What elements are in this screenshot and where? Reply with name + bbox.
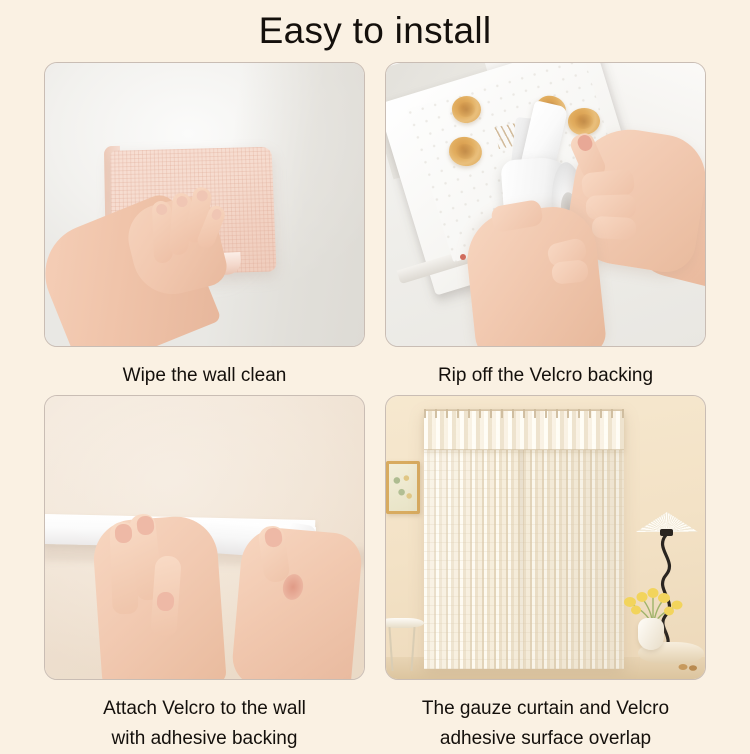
step-4-photo <box>385 395 706 680</box>
right-finger-ring <box>591 216 636 240</box>
step-card-2: Rip off the Velcro backing <box>385 62 706 391</box>
step-4-caption: The gauze curtain and Velcro adhesive su… <box>385 694 706 754</box>
step-2-caption-line-1: Rip off the Velcro backing <box>438 365 653 386</box>
steps-grid: Wipe the wall clean <box>44 62 706 744</box>
step-card-3: Attach Velcro to the wall with adhesive … <box>44 395 365 754</box>
framed-botanical-print <box>386 461 420 514</box>
step-4-caption-line-1: The gauze curtain and Velcro <box>385 694 706 724</box>
step-card-1: Wipe the wall clean <box>44 62 365 391</box>
step-3-caption-line-1: Attach Velcro to the wall <box>44 694 365 724</box>
fingernail <box>115 524 133 544</box>
print-artwork <box>389 464 417 511</box>
side-table-leg <box>388 627 393 671</box>
red-dot-decoration <box>460 254 466 260</box>
right-hand <box>230 525 363 680</box>
decor-objects <box>678 658 700 666</box>
white-vase <box>638 618 664 650</box>
step-1-caption-line-1: Wipe the wall clean <box>123 365 287 386</box>
step-1-photo <box>44 62 365 347</box>
side-table-leg <box>410 627 415 671</box>
step-1-caption: Wipe the wall clean <box>44 361 365 391</box>
step-2-photo <box>385 62 706 347</box>
step-3-caption: Attach Velcro to the wall with adhesive … <box>44 694 365 754</box>
side-table-top <box>385 618 424 628</box>
step-2-caption: Rip off the Velcro backing <box>385 361 706 391</box>
step-card-4: The gauze curtain and Velcro adhesive su… <box>385 395 706 754</box>
product-infographic: Easy to install Wipe the wall clean <box>0 0 750 750</box>
curtain-hooks <box>424 409 624 418</box>
left-side-table <box>386 618 426 670</box>
small-decor-icon <box>678 663 700 671</box>
page-title: Easy to install <box>0 8 750 54</box>
step-3-photo <box>44 395 365 680</box>
